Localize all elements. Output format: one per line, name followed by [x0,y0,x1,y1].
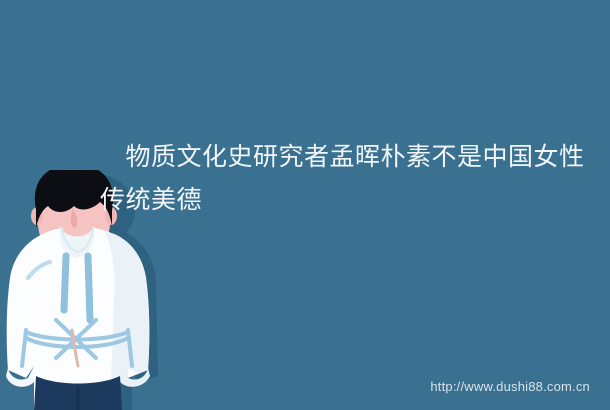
image-canvas: 物质文化史研究者孟晖朴素不是中国女性传统美德 http://www.dushi8… [0,0,610,410]
headline-text: 物质文化史研究者孟晖朴素不是中国女性传统美德 [100,136,590,222]
watermark-url: http://www.dushi88.com.cn [430,379,590,394]
